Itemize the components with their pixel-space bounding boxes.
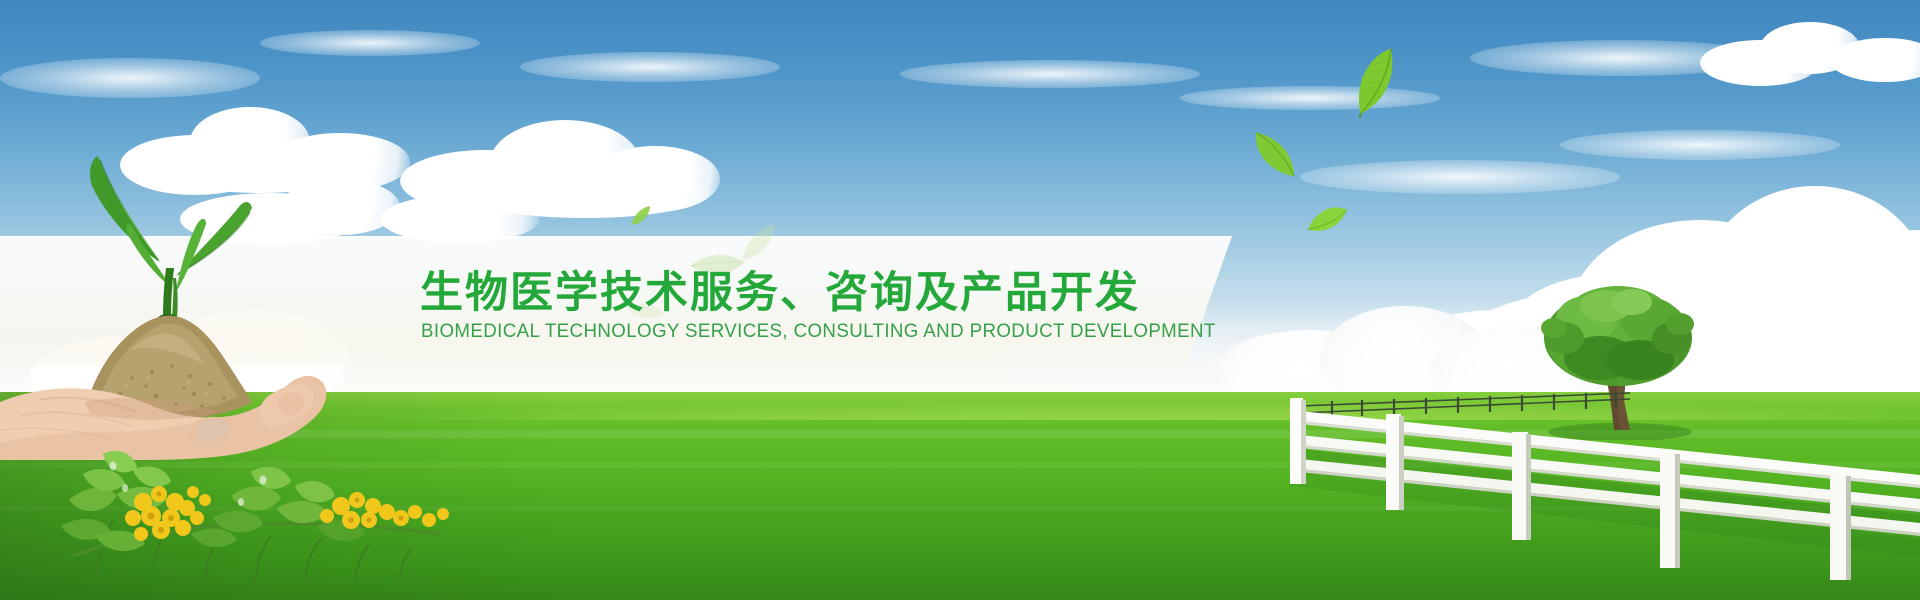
cloud-wisp-far-left <box>0 58 260 98</box>
cloud-wisp-right-a <box>1180 86 1440 110</box>
cloud-wisp-right-d <box>1300 160 1620 194</box>
flower-cluster <box>55 440 465 590</box>
cloud-wisp-upper-centre <box>520 52 780 82</box>
cloud-wisp-centre-right <box>900 60 1200 88</box>
white-ranch-fence <box>1290 390 1920 580</box>
cloud-wisp-upper-left <box>260 30 480 56</box>
promotional-banner: 生物医学技术服务、咨询及产品开发 BIOMEDICAL TECHNOLOGY S… <box>0 0 1920 600</box>
page-subtitle: BIOMEDICAL TECHNOLOGY SERVICES, CONSULTI… <box>421 320 1216 343</box>
cloud-wisp-right-c <box>1560 130 1840 160</box>
foliage-leaves <box>61 451 365 551</box>
page-title: 生物医学技术服务、咨询及产品开发 <box>420 258 1140 320</box>
sprout-leaves <box>90 156 252 326</box>
hand-holding-sprout <box>0 150 340 460</box>
